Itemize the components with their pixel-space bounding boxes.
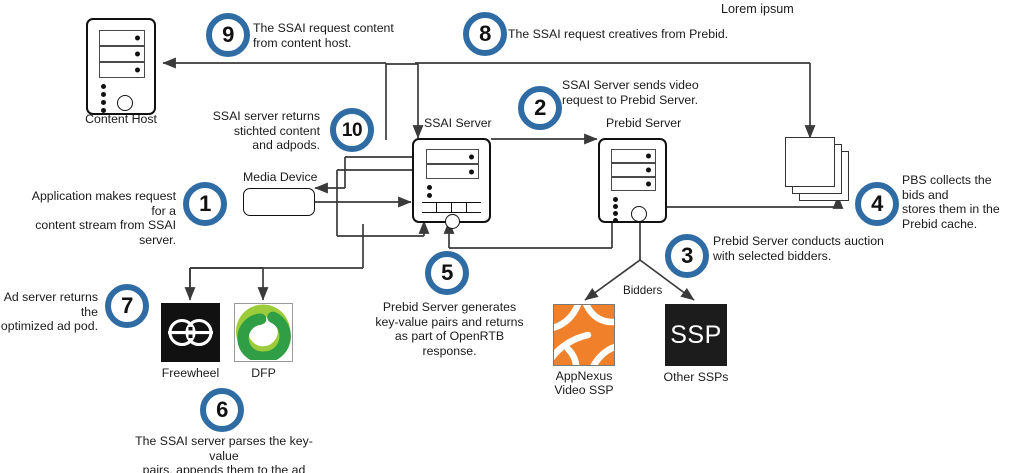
step-badge-7[interactable]: 7 xyxy=(105,284,149,328)
ssai-slot-bar xyxy=(422,202,481,213)
step-caption-5: Prebid Server generates key-value pairs … xyxy=(372,300,527,358)
step-badge-3[interactable]: 3 xyxy=(665,234,709,278)
label-content-host: Content Host xyxy=(76,112,166,126)
step-badge-4[interactable]: 4 xyxy=(855,182,899,226)
step-caption-1: Application makes request for a content … xyxy=(16,189,176,247)
node-content-host xyxy=(86,18,156,115)
diagram-canvas: Content Host SSAI Server Prebid Server M… xyxy=(0,0,1015,473)
node-prebid-server xyxy=(598,138,667,223)
step-badge-6[interactable]: 6 xyxy=(200,388,244,432)
step-caption-10: SSAI server returns stichted content and… xyxy=(205,109,320,153)
freewheel-icon xyxy=(161,303,220,362)
label-other-ssps: Other SSPs xyxy=(656,370,736,384)
label-ssai-server: SSAI Server xyxy=(424,116,492,130)
step-badge-10[interactable]: 10 xyxy=(330,108,374,152)
step-badge-2[interactable]: 2 xyxy=(518,86,562,130)
step-badge-5[interactable]: 5 xyxy=(425,251,469,295)
label-prebid-server: Prebid Server xyxy=(606,116,681,130)
node-appnexus xyxy=(553,304,615,366)
ssp-logo-text: SSP xyxy=(670,321,722,350)
cache-card-front xyxy=(785,137,835,187)
node-dfp xyxy=(234,303,293,362)
step-caption-8: The SSAI request creatives from Prebid. xyxy=(508,27,808,42)
dfp-icon xyxy=(235,304,291,360)
node-ssai-server xyxy=(412,138,491,223)
step-caption-4: PBS collects the bids and stores them in… xyxy=(902,173,1015,231)
node-freewheel xyxy=(161,303,220,362)
label-media-device: Media Device xyxy=(243,170,318,184)
step-caption-2: SSAI Server sends video request to Prebi… xyxy=(562,78,782,107)
label-dfp: DFP xyxy=(224,366,303,380)
step-caption-7: Ad server returns the optimized ad pod. xyxy=(0,290,98,334)
appnexus-icon xyxy=(554,305,615,366)
step-caption-6: The SSAI server parses the key-value pai… xyxy=(124,434,324,473)
step-caption-3: Prebid Server conducts auction with sele… xyxy=(713,234,943,263)
step-badge-1[interactable]: 1 xyxy=(183,182,227,226)
node-media-device xyxy=(243,188,315,216)
node-other-ssps: SSP xyxy=(665,304,727,366)
label-appnexus: AppNexus Video SSP xyxy=(534,369,634,397)
step-badge-9[interactable]: 9 xyxy=(206,13,250,57)
label-freewheel: Freewheel xyxy=(151,366,230,380)
watermark-text: Lorem ipsum xyxy=(721,2,794,16)
label-bidders: Bidders xyxy=(622,284,663,297)
step-caption-9: The SSAI request content from content ho… xyxy=(253,21,438,50)
step-badge-8[interactable]: 8 xyxy=(463,12,507,56)
